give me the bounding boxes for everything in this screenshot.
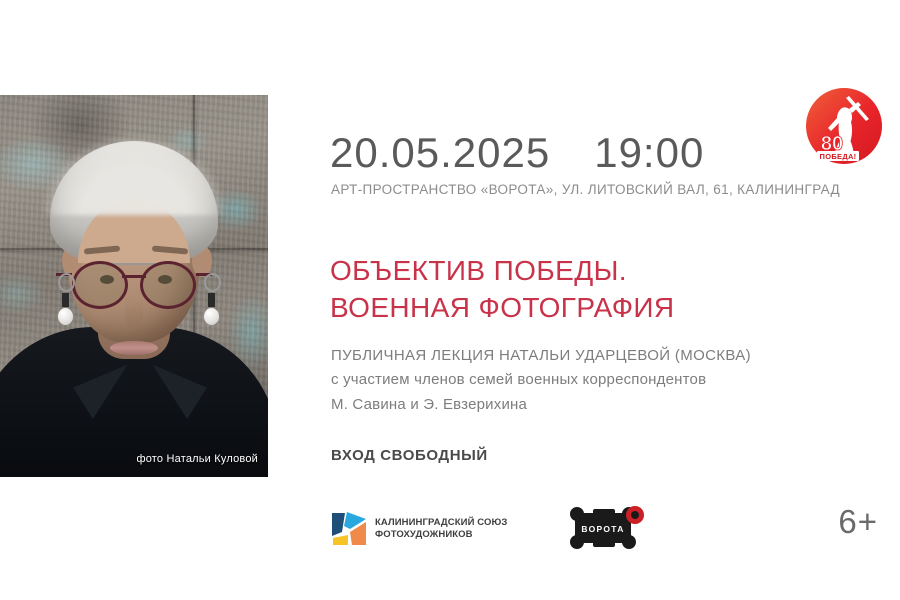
event-date: 20.05.2025 [330,129,550,176]
event-description: ПУБЛИЧНАЯ ЛЕКЦИЯ НАТАЛЬИ УДАРЦЕВОЙ (МОСК… [331,344,751,417]
earring-bar-left [62,293,69,307]
photo-credit-caption: фото Натальи Куловой [136,453,258,465]
age-rating-label: 6+ [838,503,878,541]
event-title-line-2: ВОЕННАЯ ФОТОГРАФИЯ [330,289,675,326]
aperture-icon [330,510,368,548]
event-datetime: 20.05.202519:00 [330,129,704,177]
subject-nose [125,295,143,331]
vorota-logo-label: ВОРОТА [582,524,625,534]
free-admission-note: ВХОД СВОБОДНЫЙ [331,447,488,464]
union-name-line-2: ФОТОХУДОЖНИКОВ [375,529,507,541]
photographers-union-name: КАЛИНИНГРАДСКИЙ СОЮЗ ФОТОХУДОЖНИКОВ [375,517,507,541]
speaker-portrait-photo: фото Натальи Куловой [0,95,268,477]
earring-right [204,273,218,325]
earring-bar-right [208,293,215,307]
event-title-line-1: ОБЪЕКТИВ ПОБЕДЫ. [330,252,675,289]
eyeglass-lens-right [140,261,196,309]
earring-hoop-left [58,273,75,292]
lecture-speaker-line: ПУБЛИЧНАЯ ЛЕКЦИЯ НАТАЛЬИ УДАРЦЕВОЙ (МОСК… [331,344,751,368]
event-venue-address: АРТ-ПРОСТРАНСТВО «ВОРОТА», УЛ. ЛИТОВСКИЙ… [331,182,840,197]
subject-hair-highlight [42,135,226,215]
earring-bead-left [58,308,73,325]
victory-80-badge: 80 ПОБЕДА! [806,88,882,164]
union-name-line-1: КАЛИНИНГРАДСКИЙ СОЮЗ [375,517,507,529]
badge-label: ПОБЕДА! [820,152,857,161]
earring-left [58,273,72,325]
lecture-names-line: М. Савина и Э. Евзерихина [331,393,751,417]
vorota-venue-logo[interactable]: ВОРОТА [567,505,645,553]
poster-canvas: фото Натальи Куловой 20.05.202519:00 АРТ… [0,0,900,600]
eyeglass-bridge [122,275,146,278]
portrait-subject [0,95,268,477]
event-title: ОБЪЕКТИВ ПОБЕДЫ. ВОЕННАЯ ФОТОГРАФИЯ [330,252,675,326]
lecture-participants-line: с участием членов семей военных корреспо… [331,368,751,392]
earring-hoop-right [204,273,221,292]
subject-lips [110,341,158,355]
photographers-union-logo[interactable]: КАЛИНИНГРАДСКИЙ СОЮЗ ФОТОХУДОЖНИКОВ [330,510,507,548]
event-time: 19:00 [594,129,704,176]
eyeglass-lens-left [72,261,128,309]
logo-row: КАЛИНИНГРАДСКИЙ СОЮЗ ФОТОХУДОЖНИКОВ [330,505,645,553]
earring-bead-right [204,308,219,325]
